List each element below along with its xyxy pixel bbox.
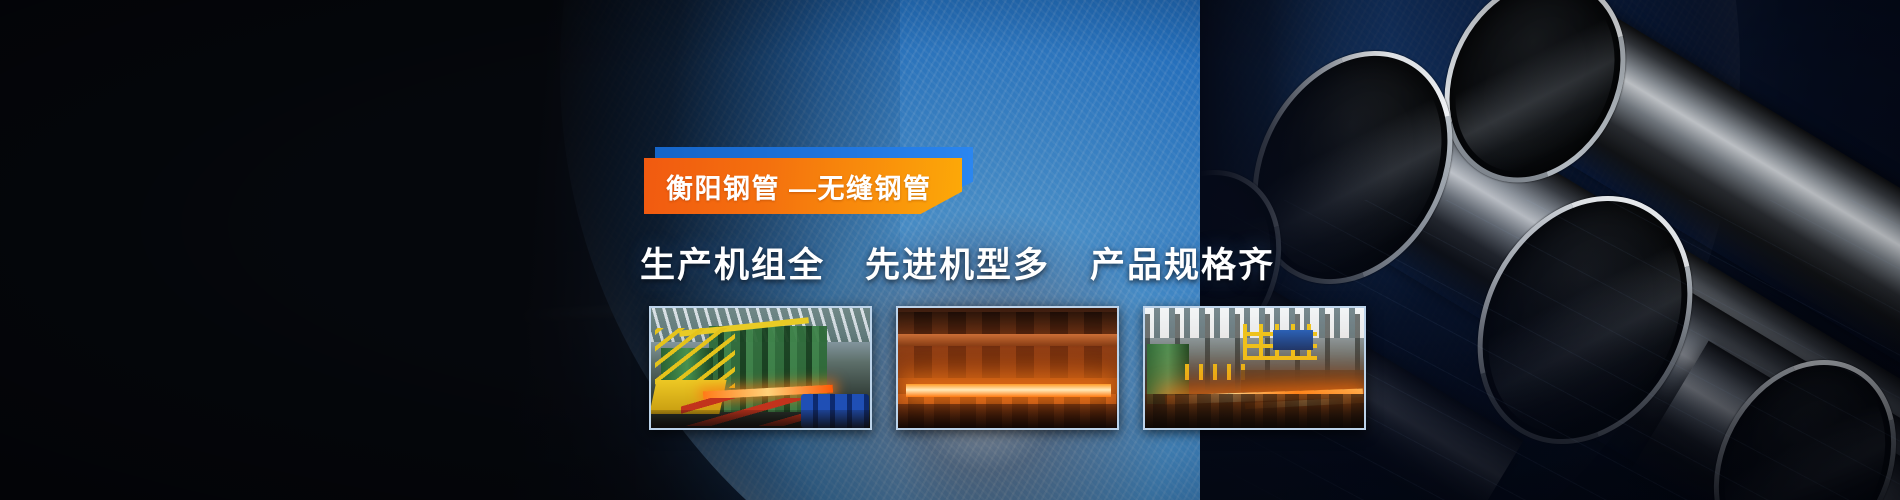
brand-tag: 衡阳钢管 —无缝钢管 <box>644 158 962 214</box>
thumbnail-factory-hall[interactable] <box>1143 306 1366 430</box>
brand-tag-body: 衡阳钢管 —无缝钢管 <box>644 158 962 214</box>
brand-tag-label: 衡阳钢管 —无缝钢管 <box>644 167 932 206</box>
banner-content: 衡阳钢管 —无缝钢管 生产机组全 先进机型多 产品规格齐 <box>640 0 1400 500</box>
headline-part-2: 先进机型多 <box>865 237 1050 288</box>
headline-part-1: 生产机组全 <box>640 237 825 288</box>
promo-banner: 衡阳钢管 —无缝钢管 生产机组全 先进机型多 产品规格齐 <box>0 0 1900 500</box>
headline: 生产机组全 先进机型多 产品规格齐 <box>640 237 1275 288</box>
thumbnail-rolling-mill[interactable] <box>649 306 872 430</box>
headline-part-3: 产品规格齐 <box>1090 237 1275 288</box>
thumbnail-row <box>649 306 1366 430</box>
thumbnail-hot-billet[interactable] <box>896 306 1119 430</box>
